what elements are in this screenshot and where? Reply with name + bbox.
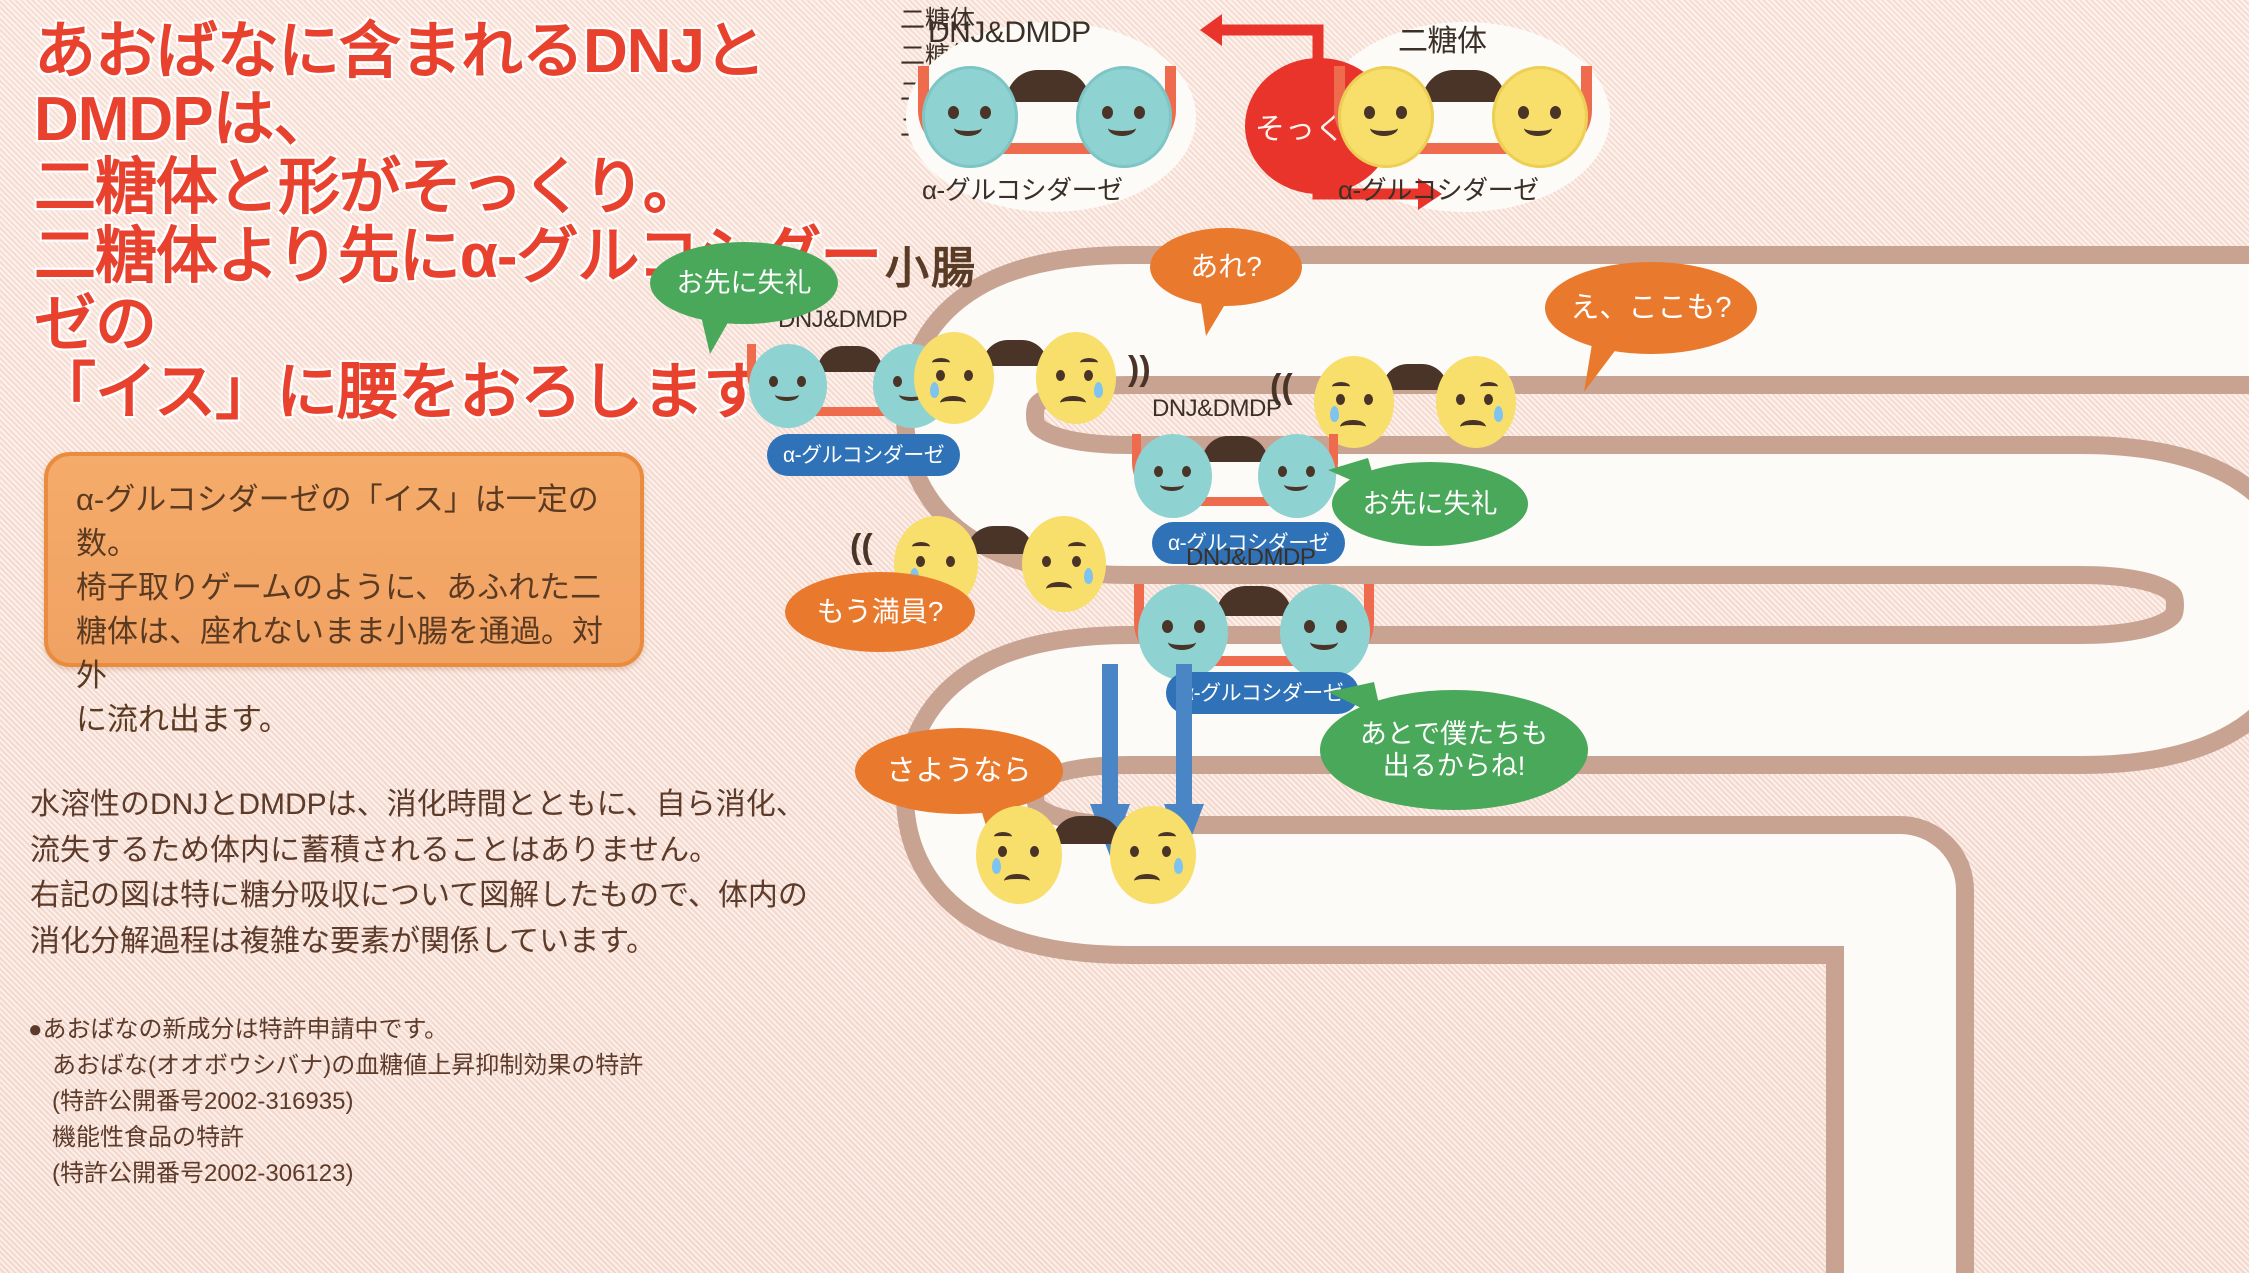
frown <box>1460 420 1486 434</box>
eye-right <box>980 106 991 119</box>
bubble-full: もう満員? <box>785 572 975 652</box>
intestine-title: 小腸 <box>885 232 977 296</box>
eye-left <box>948 106 959 119</box>
eye-left <box>1336 394 1345 405</box>
brow-right <box>1068 542 1086 551</box>
eye-left <box>916 556 925 567</box>
top-left-glucosidase-caption: α-グルコシダーゼ <box>922 170 1123 207</box>
motion-lines-row2: (( <box>850 528 873 567</box>
ball-left <box>922 66 1018 168</box>
eye-left <box>1518 106 1529 119</box>
smile <box>1168 634 1196 650</box>
row2-dnj-label: DNJ&DMDP <box>1152 395 1281 423</box>
smile <box>1284 478 1308 491</box>
ball-left <box>914 332 994 424</box>
bubble-huh-tail <box>1200 296 1260 346</box>
tear <box>1094 382 1103 398</box>
eye-right <box>1030 846 1039 857</box>
bubble-we-come-later-tail <box>1322 672 1392 728</box>
eye-left <box>936 370 945 381</box>
bubble-huh: あれ? <box>1150 228 1302 306</box>
top-right-glucosidase-caption: α-グルコシダーゼ <box>1338 170 1539 207</box>
smile <box>1160 478 1184 491</box>
eye-left <box>769 376 778 387</box>
smile <box>1108 120 1136 136</box>
ball-right <box>1022 516 1106 612</box>
ball-right <box>1110 806 1196 904</box>
eye-left <box>1130 846 1139 857</box>
eye-right <box>1364 394 1373 405</box>
eye-right <box>946 556 955 567</box>
eye-right <box>964 370 973 381</box>
bubble-excuse-me-2-tail <box>1320 452 1390 502</box>
eye-right <box>1484 394 1493 405</box>
eye-right <box>1134 106 1145 119</box>
frown <box>1134 874 1160 888</box>
eye-left <box>1056 370 1065 381</box>
eye-right <box>1072 556 1081 567</box>
eye-right <box>1396 106 1407 119</box>
brow-right <box>1480 382 1498 391</box>
eye-left <box>1102 106 1113 119</box>
brow-left <box>932 358 950 367</box>
eye-left <box>998 846 1007 857</box>
ball-right <box>1436 356 1516 448</box>
ball-left <box>1338 66 1434 168</box>
eye-left <box>1162 620 1173 633</box>
smile <box>1524 120 1552 136</box>
frown <box>940 396 966 410</box>
smile <box>954 120 982 136</box>
tear <box>1084 568 1093 584</box>
frown <box>1046 582 1072 596</box>
motion-lines-row1: )) <box>1128 350 1151 389</box>
eye-right <box>1084 370 1093 381</box>
smile <box>1310 634 1338 650</box>
ball-right <box>1492 66 1588 168</box>
bubble-excuse-me-1-tail <box>700 312 770 362</box>
eye-left <box>1364 106 1375 119</box>
ball-left <box>1134 434 1212 518</box>
molecule-dnj-top <box>914 48 1184 163</box>
bubble-here-too: え、ここも? <box>1545 262 1757 354</box>
row1-glucosidase-badge: α-グルコシダーゼ <box>767 434 960 476</box>
bubble-here-too-tail <box>1562 344 1632 404</box>
eye-left <box>1456 394 1465 405</box>
eye-left <box>1304 620 1315 633</box>
patent-notes: ●あおばなの新成分は特許申請中です。 あおばな(オオボウシバナ)の血糖値上昇抑制… <box>28 1012 958 1192</box>
intestine-diagram: DNJ&DMDP α-グルコシダーゼ そっくり! 二糖体 <box>900 0 2249 1273</box>
eye-right <box>1194 620 1205 633</box>
callout-box-text: α-グルコシダーゼの「イス」は一定の数。 椅子取りゲームのように、あふれた二 糖… <box>76 478 622 742</box>
smile <box>775 388 799 401</box>
molecule-sugar-top <box>1330 48 1600 163</box>
frown <box>1060 396 1086 410</box>
molecule-dnj-row2 <box>1130 420 1345 520</box>
eye-right <box>1550 106 1561 119</box>
callout-box: α-グルコシダーゼの「イス」は一定の数。 椅子取りゲームのように、あふれた二 糖… <box>44 452 644 667</box>
tear <box>1174 858 1183 874</box>
brow-right <box>1080 358 1098 367</box>
eye-right <box>797 376 806 387</box>
tear <box>1494 406 1503 422</box>
eye-left <box>893 376 902 387</box>
ball-right <box>1076 66 1172 168</box>
eye-left <box>1278 466 1287 477</box>
brow-left <box>912 542 930 551</box>
eye-right <box>1182 466 1191 477</box>
top-dnj-label: DNJ&DMDP <box>928 16 1091 50</box>
eye-right <box>1162 846 1171 857</box>
body-copy: 水溶性のDNJとDMDPは、消化時間とともに、自ら消化、 流失するため体内に蓄積… <box>30 782 960 964</box>
tear <box>930 382 939 398</box>
brow-left <box>994 832 1012 841</box>
ball-left <box>976 806 1062 904</box>
frown <box>1004 874 1030 888</box>
ball-right <box>1036 332 1116 424</box>
eye-left <box>1042 556 1051 567</box>
molecule-sugar-bottom <box>972 792 1200 902</box>
tear <box>992 858 1001 874</box>
eye-right <box>1336 620 1347 633</box>
eye-left <box>1154 466 1163 477</box>
brow-right <box>1158 832 1176 841</box>
smile <box>1370 120 1398 136</box>
eye-right <box>1306 466 1315 477</box>
brow-left <box>1332 382 1350 391</box>
molecule-sugar-row1 <box>910 318 1120 418</box>
